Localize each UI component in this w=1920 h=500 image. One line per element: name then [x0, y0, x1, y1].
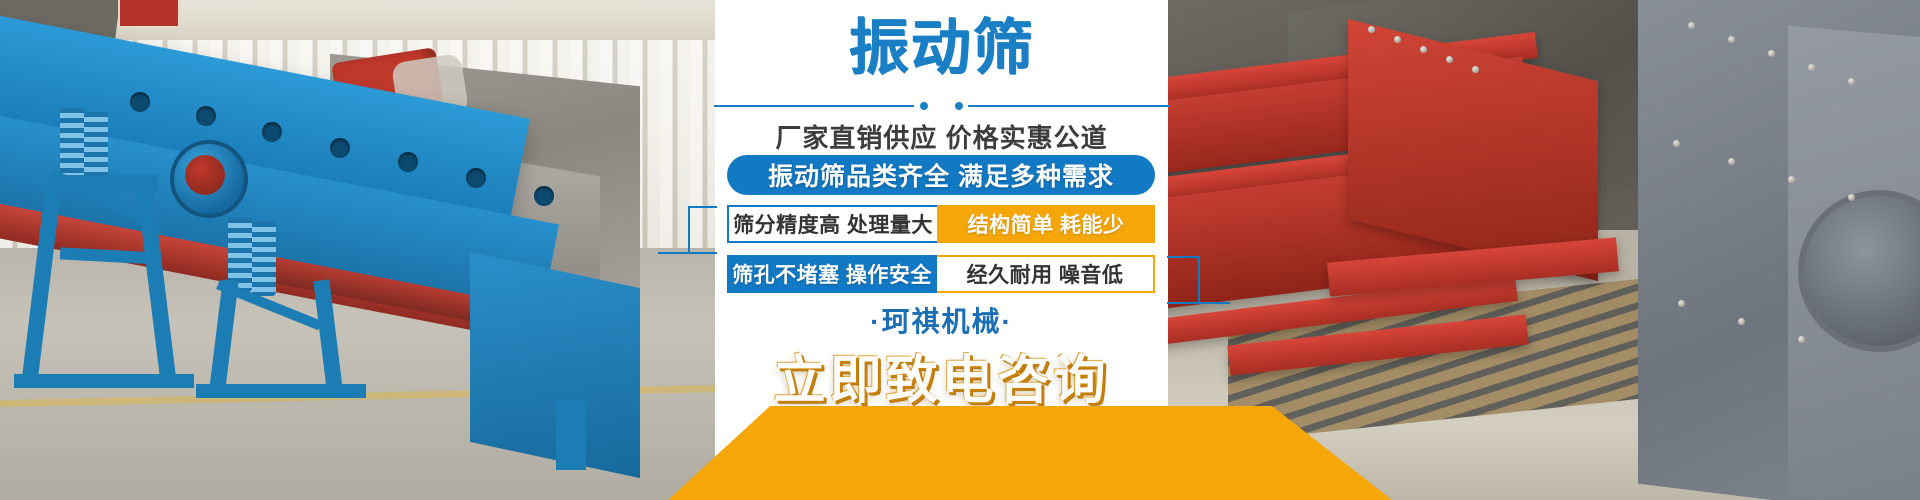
- right-product-photo: [1168, 0, 1920, 500]
- connector-horizontal: [688, 206, 717, 208]
- center-text-panel: 振动筛 厂家直销供应 价格实惠公道 振动筛品类齐全 满足多种需求 筛分精度高 处…: [715, 0, 1168, 500]
- feature-row-1: 筛分精度高 处理量大 结构简单 耗能少: [727, 205, 1155, 243]
- bolt: [1472, 66, 1479, 73]
- brand-name: ·珂祺机械·: [715, 300, 1168, 340]
- bolt: [1446, 56, 1453, 63]
- bolt: [1728, 36, 1735, 43]
- support-spring: [60, 108, 84, 182]
- highlight-pill: 振动筛品类齐全 满足多种需求: [727, 155, 1155, 195]
- bolt-hole: [262, 122, 282, 142]
- bolt: [1394, 36, 1401, 43]
- eccentric-drum-hub: [185, 155, 225, 195]
- divider-dot-left: [920, 102, 928, 110]
- bolt-hole: [466, 168, 486, 188]
- bolt: [1848, 78, 1855, 85]
- frame-base: [14, 374, 194, 388]
- left-product-photo: [0, 0, 770, 500]
- bolt-hole: [196, 106, 216, 126]
- bolt-hole: [130, 92, 150, 112]
- connector-elbow-left: [688, 206, 718, 256]
- bolt: [1738, 318, 1745, 325]
- bolt: [1673, 140, 1680, 147]
- page-title: 振动筛: [715, 18, 1168, 78]
- connector-horizontal: [1167, 256, 1200, 258]
- feature-row-1-right: 结构简单 耗能少: [937, 205, 1155, 243]
- red-wall-sign: [118, 0, 180, 28]
- feature-row-2: 筛孔不堵塞 操作安全 经久耐用 噪音低: [727, 255, 1155, 293]
- subtitle: 厂家直销供应 价格实惠公道: [715, 118, 1168, 155]
- divider-dot-right: [955, 102, 963, 110]
- connector-horizontal-tail: [1167, 302, 1230, 304]
- connector-elbow-right: [1166, 256, 1200, 306]
- bolt: [1368, 26, 1375, 33]
- bolt-hole: [330, 138, 350, 158]
- bolt: [1788, 176, 1795, 183]
- connector-vertical: [1198, 256, 1200, 304]
- feature-row-2-right: 经久耐用 噪音低: [937, 255, 1155, 293]
- feature-row-1-left: 筛分精度高 处理量大: [727, 205, 937, 243]
- bolt-hole: [398, 152, 418, 172]
- feature-row-2-left: 筛孔不堵塞 操作安全: [727, 255, 937, 293]
- call-to-action: 立即致电咨询: [715, 338, 1168, 413]
- support-spring: [252, 222, 276, 296]
- bolt-hole: [534, 186, 554, 206]
- title-divider: [715, 100, 1168, 112]
- bolt: [1688, 22, 1695, 29]
- product-banner: 振动筛 厂家直销供应 价格实惠公道 振动筛品类齐全 满足多种需求 筛分精度高 处…: [0, 0, 1920, 500]
- bolt: [1768, 50, 1775, 57]
- frame-base: [196, 384, 366, 398]
- bolt: [1678, 300, 1685, 307]
- divider-line-right: [968, 105, 1169, 107]
- bolt: [1808, 64, 1815, 71]
- connector-horizontal-tail: [658, 252, 717, 254]
- bolt: [1848, 194, 1855, 201]
- bolt: [1798, 336, 1805, 343]
- blue-side-plate: [470, 252, 640, 478]
- bolt: [1728, 158, 1735, 165]
- connector-vertical: [688, 206, 690, 254]
- blue-foot: [556, 400, 586, 470]
- bolt: [1420, 46, 1427, 53]
- divider-line-left: [714, 105, 914, 107]
